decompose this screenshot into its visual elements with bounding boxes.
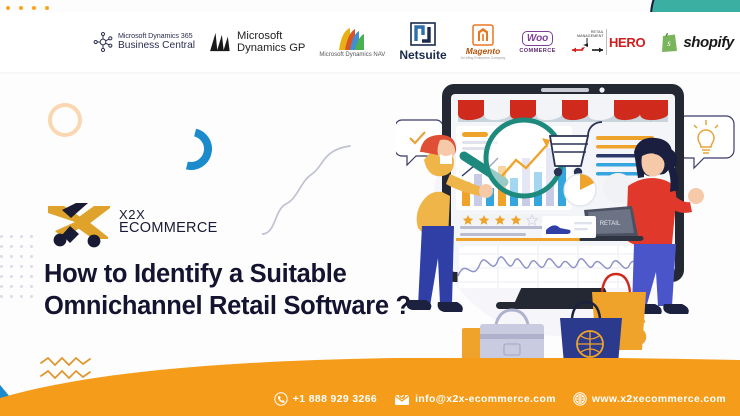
phone-icon [274,392,288,406]
laptop-screen-label: RETAIL [600,221,621,227]
footer-contact-website[interactable]: www.x2xecommerce.com [573,392,726,406]
omnichannel-retail-analytics-illustration: RETAIL $ [396,78,740,378]
monitor-speaker [541,88,589,92]
blue-arc-decoration [166,124,217,175]
pie-chart [564,174,596,206]
x2x-chevron-logo-icon [44,196,116,248]
monitor-camera [599,87,604,92]
partner-logo-label-line2: Dynamics GP [237,42,305,54]
contact-footer-bar: +1 888 929 3266 info@x2x-ecommerce.com w… [0,358,740,416]
partner-logo-woocommerce[interactable]: Woo COMMERCE [519,31,555,54]
footer-contact-email-label: info@x2x-ecommerce.com [415,394,556,405]
footer-contacts: +1 888 929 3266 info@x2x-ecommerce.com w… [274,392,726,406]
product-card [542,216,596,238]
envelope-icon [394,392,410,406]
partner-logo-label-line1: Netsuite [399,48,446,62]
partner-logo-label-line1: Woo [522,31,553,46]
partner-logo-label-line2: COMMERCE [519,48,555,54]
dynamics-gp-mountain-icon [209,32,233,52]
magento-arch-icon [472,24,494,46]
globe-icon [573,392,587,406]
partner-logo-label-line1: shopify [683,34,734,51]
partner-logo-microsoft-dynamics-nav[interactable]: Microsoft Dynamics NAV [319,27,385,58]
footer-contact-website-label: www.x2xecommerce.com [592,394,726,405]
rmh-arrows-icon [570,38,604,54]
partner-logo-retail-management-hero[interactable]: RETAIL MANAGEMENT HERO [570,29,646,55]
footer-contact-phone[interactable]: +1 888 929 3266 [274,392,377,406]
dynamics-365-node-icon [92,31,114,53]
partner-logo-netsuite[interactable]: Netsuite [399,22,446,62]
briefcase [462,310,544,364]
shop-awning [458,100,668,122]
partner-logo-label-line1: Microsoft Dynamics 365 [118,32,195,40]
svg-text:$: $ [621,304,647,356]
partner-logo-microsoft-dynamics-365-business-central[interactable]: Microsoft Dynamics 365 Business Central [92,31,195,53]
partner-logo-magento[interactable]: Magento An eBay Enterprise Company [461,24,506,60]
netsuite-n-icon [410,22,436,46]
footer-curve-shape [0,358,740,416]
dollar-sign-icon: $ [621,304,647,356]
partner-logo-microsoft-dynamics-gp[interactable]: Microsoft Dynamics GP [209,30,305,54]
partner-logo-label-line1: Microsoft [237,30,305,42]
partner-logo-label-line1: Microsoft Dynamics NAV [319,52,385,58]
brand-name-line1: X2X [119,208,218,221]
gray-squiggle-decoration [262,130,354,240]
brand-logo[interactable]: X2X ECOMMERCE [44,196,218,248]
partner-logo-shopify[interactable]: s shopify [659,31,734,53]
dynamics-nav-fan-icon [337,27,367,51]
partner-logo-label-line2: Business Central [118,40,195,51]
banner-stage: Microsoft Dynamics 365 Business Central … [0,0,740,416]
peach-ring-decoration [48,103,82,137]
woman-character [626,138,704,314]
partner-logo-bar: Microsoft Dynamics 365 Business Central … [0,12,740,72]
partner-logo-label-line3: HERO [609,35,645,50]
svg-text:s: s [668,38,672,48]
footer-contact-phone-label: +1 888 929 3266 [293,394,377,405]
partner-logo-label-line2: An eBay Enterprise Company [461,56,506,60]
gray-dot-grid [0,235,33,298]
partner-logo-label-line1: Magento [466,46,500,56]
page-title: How to Identify a Suitable Omnichannel R… [44,259,444,323]
brand-name-line2: ECOMMERCE [119,221,218,236]
speech-bubble-right [678,116,734,168]
shopify-bag-icon: s [659,31,679,53]
footer-contact-email[interactable]: info@x2x-ecommerce.com [394,392,556,406]
